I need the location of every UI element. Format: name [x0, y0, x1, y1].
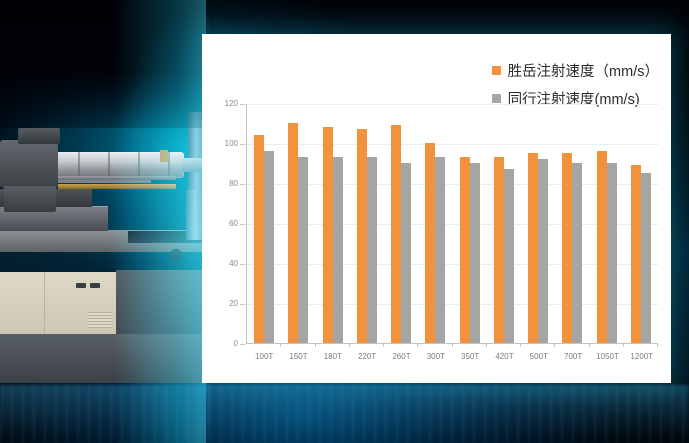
y-axis-tick — [240, 224, 245, 225]
bar-group[interactable] — [487, 104, 521, 343]
legend-swatch-series-2 — [492, 94, 501, 103]
bar-group[interactable] — [316, 104, 350, 343]
legend-swatch-series-1 — [492, 66, 501, 75]
bar-series-1[interactable] — [357, 129, 367, 343]
bar-series-1[interactable] — [494, 157, 504, 343]
bar-series-1[interactable] — [460, 157, 470, 343]
x-axis-label: 350T — [453, 352, 487, 361]
x-axis-tick — [589, 343, 590, 347]
bar-series-2[interactable] — [401, 163, 411, 343]
x-axis-tick — [554, 343, 555, 347]
bar-series-2[interactable] — [470, 163, 480, 343]
y-axis-tick — [240, 304, 245, 305]
bar-group[interactable] — [590, 104, 624, 343]
bar-series-2[interactable] — [367, 157, 377, 343]
bar-series-2[interactable] — [435, 157, 445, 343]
background-light-streaks — [0, 385, 689, 443]
x-axis-label: 420T — [487, 352, 521, 361]
y-axis-tick-label: 120 — [212, 99, 238, 108]
bar-series-2[interactable] — [298, 157, 308, 343]
bar-series-container — [247, 104, 658, 343]
x-axis-tick — [657, 343, 658, 347]
x-axis-label: 300T — [419, 352, 453, 361]
x-axis-tick — [520, 343, 521, 347]
y-axis-tick-label: 100 — [212, 139, 238, 148]
plot-area: 020406080100120 — [246, 104, 658, 344]
bar-group[interactable] — [247, 104, 281, 343]
bar-series-1[interactable] — [425, 143, 435, 343]
y-axis-tick — [240, 104, 245, 105]
bar-group[interactable] — [350, 104, 384, 343]
y-axis-tick-label: 20 — [212, 299, 238, 308]
bar-series-2[interactable] — [538, 159, 548, 343]
bar-series-2[interactable] — [264, 151, 274, 343]
chart-panel: 胜岳注射速度（mm/s） 同行注射速度(mm/s) 02040608010012… — [202, 34, 671, 383]
x-axis-tick — [383, 343, 384, 347]
bar-series-2[interactable] — [641, 173, 651, 343]
bar-series-1[interactable] — [631, 165, 641, 343]
y-axis-tick — [240, 264, 245, 265]
bar-group[interactable] — [521, 104, 555, 343]
x-axis-label: 260T — [384, 352, 418, 361]
x-axis-label: 180T — [316, 352, 350, 361]
y-axis-tick — [240, 184, 245, 185]
legend-item-series-1[interactable]: 胜岳注射速度（mm/s） — [492, 60, 659, 81]
y-axis-tick-label: 60 — [212, 219, 238, 228]
x-axis-label: 1050T — [590, 352, 624, 361]
legend-label-series-1: 胜岳注射速度（mm/s） — [508, 60, 659, 81]
x-axis-label: 1200T — [625, 352, 659, 361]
x-axis-tick — [417, 343, 418, 347]
x-axis-tick — [280, 343, 281, 347]
x-axis-tick — [452, 343, 453, 347]
x-axis-tick — [623, 343, 624, 347]
bar-series-1[interactable] — [528, 153, 538, 343]
bar-group[interactable] — [624, 104, 658, 343]
bar-group[interactable] — [281, 104, 315, 343]
bar-series-1[interactable] — [562, 153, 572, 343]
bar-series-1[interactable] — [288, 123, 298, 343]
y-axis-tick — [240, 144, 245, 145]
bar-series-1[interactable] — [391, 125, 401, 343]
screenshot-stage: 胜岳注射速度（mm/s） 同行注射速度(mm/s) 02040608010012… — [0, 0, 689, 443]
bar-group[interactable] — [555, 104, 589, 343]
x-axis-tick — [315, 343, 316, 347]
x-axis-label: 220T — [350, 352, 384, 361]
x-axis-tick — [349, 343, 350, 347]
bar-group[interactable] — [384, 104, 418, 343]
y-axis-tick-label: 80 — [212, 179, 238, 188]
x-axis-label: 100T — [247, 352, 281, 361]
background-edge-glow — [0, 0, 210, 443]
bar-group[interactable] — [453, 104, 487, 343]
bar-group[interactable] — [418, 104, 452, 343]
bar-series-2[interactable] — [572, 163, 582, 343]
bar-series-2[interactable] — [333, 157, 343, 343]
bar-series-1[interactable] — [323, 127, 333, 343]
x-axis-label: 500T — [522, 352, 556, 361]
bar-series-2[interactable] — [607, 163, 617, 343]
y-axis-tick-label: 0 — [212, 339, 238, 348]
bar-series-1[interactable] — [597, 151, 607, 343]
x-axis-tick — [486, 343, 487, 347]
bar-series-1[interactable] — [254, 135, 264, 343]
y-axis-tick-label: 40 — [212, 259, 238, 268]
bar-series-2[interactable] — [504, 169, 514, 343]
x-axis-label: 700T — [556, 352, 590, 361]
x-axis-label: 150T — [281, 352, 315, 361]
y-axis-tick — [240, 344, 245, 345]
x-axis-labels: 100T150T180T220T260T300T350T420T500T700T… — [247, 352, 659, 361]
